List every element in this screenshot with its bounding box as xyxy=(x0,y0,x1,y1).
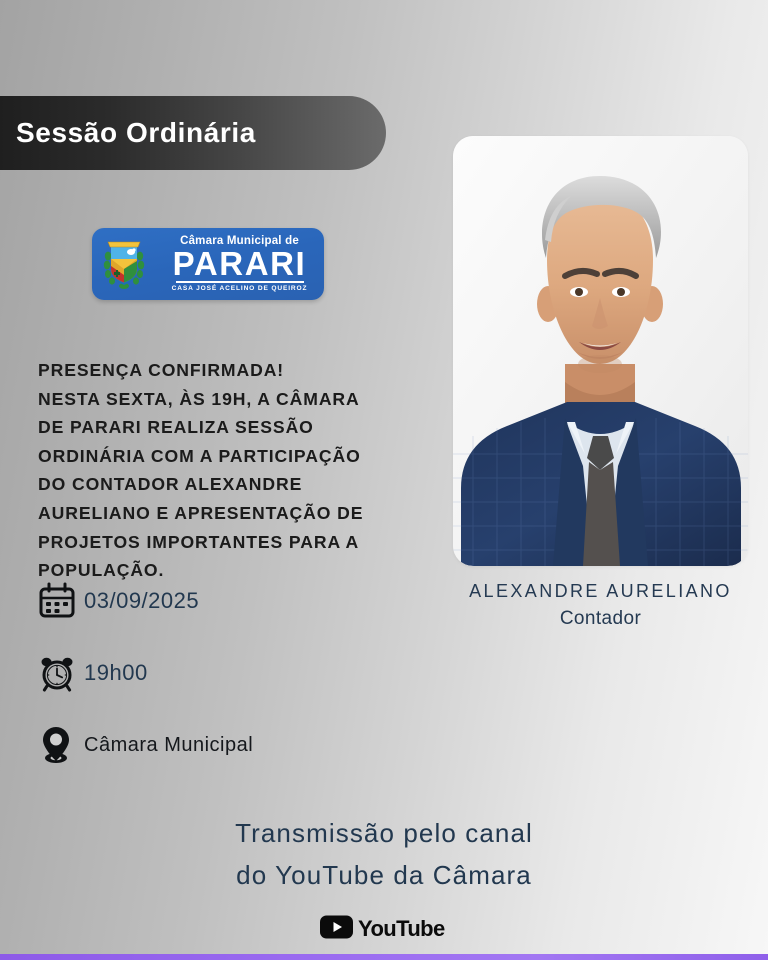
event-place-value: Câmara Municipal xyxy=(84,734,253,757)
svg-text:YouTube: YouTube xyxy=(358,916,445,941)
event-place-row: Câmara Municipal xyxy=(38,722,398,768)
speaker-photo xyxy=(453,136,748,566)
logo-line-2: PARARI xyxy=(173,248,307,280)
coat-of-arms-icon xyxy=(101,236,147,292)
youtube-badge[interactable]: YouTube xyxy=(320,912,448,942)
camara-logo: Câmara Municipal de PARARI CASA JOSÉ ACE… xyxy=(92,228,324,300)
speaker-name: ALEXANDRE AURELIANO xyxy=(433,578,768,605)
speaker-caption: ALEXANDRE AURELIANO Contador xyxy=(433,578,768,633)
event-date-value: 03/09/2025 xyxy=(84,588,199,614)
logo-line-3: CASA JOSÉ ACELINO DE QUEIROZ xyxy=(172,285,308,294)
speaker-role: Contador xyxy=(433,605,768,633)
youtube-play-icon xyxy=(320,916,353,939)
event-details-list: 03/09/2025 19h00 xyxy=(38,578,398,768)
bottom-accent-strip xyxy=(0,954,768,960)
event-date-row: 03/09/2025 xyxy=(38,578,398,624)
logo-text-block: Câmara Municipal de PARARI CASA JOSÉ ACE… xyxy=(155,235,324,293)
event-time-value: 19h00 xyxy=(84,660,148,686)
logo-divider xyxy=(176,281,304,283)
header-banner: Sessão Ordinária xyxy=(0,96,386,170)
broadcast-footer: Transmissão pelo canal do YouTube da Câm… xyxy=(0,812,768,947)
broadcast-line-2: do YouTube da Câmara xyxy=(0,854,768,896)
event-time-row: 19h00 xyxy=(38,650,398,696)
location-pin-icon xyxy=(38,725,84,765)
broadcast-line-1: Transmissão pelo canal xyxy=(0,812,768,854)
announcement-text: PRESENÇA CONFIRMADA! NESTA SEXTA, ÀS 19H… xyxy=(38,356,418,585)
calendar-icon xyxy=(38,582,84,620)
alarm-clock-icon xyxy=(38,654,84,692)
poster-canvas: Sessão Ordinária xyxy=(0,0,768,960)
page-title: Sessão Ordinária xyxy=(16,117,256,149)
